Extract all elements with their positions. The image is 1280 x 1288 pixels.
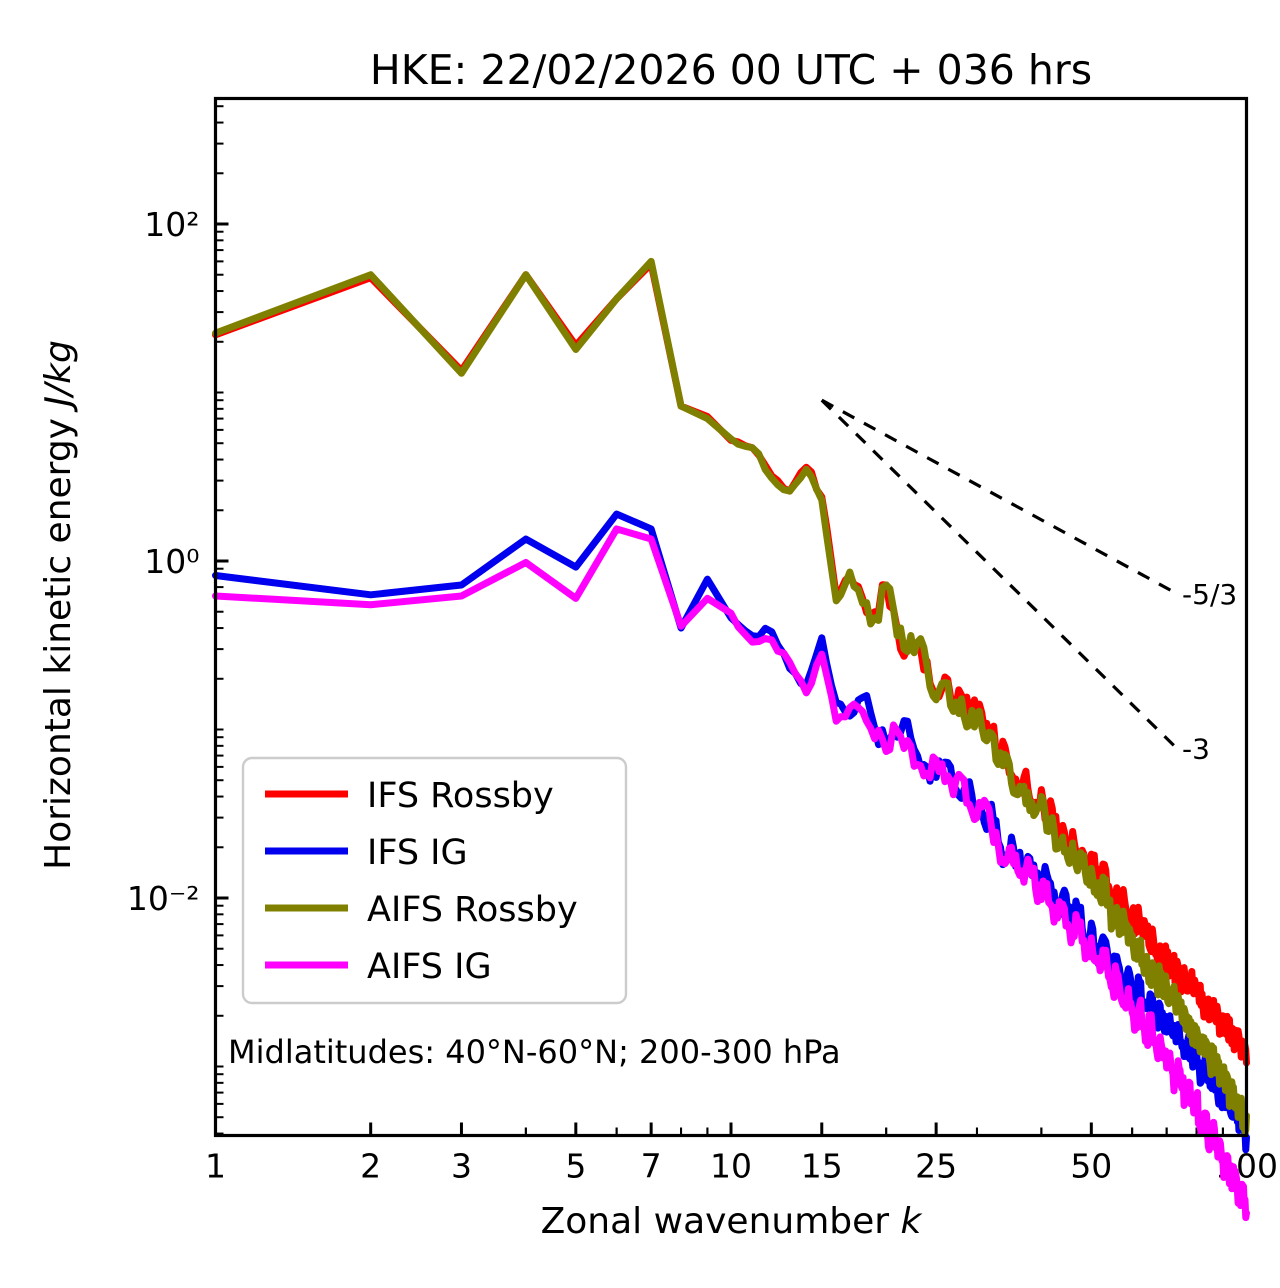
legend-label-ifs-ig: IFS IG <box>367 833 468 873</box>
figure-canvas: HKE: 22/02/2026 00 UTC + 036 hrs Horizon… <box>0 0 1280 1288</box>
x-tick-label: 15 <box>801 1147 843 1186</box>
x-tick-label: 25 <box>915 1147 957 1186</box>
chart-title: HKE: 22/02/2026 00 UTC + 036 hrs <box>370 46 1092 94</box>
x-tick-label: 3 <box>451 1147 472 1186</box>
y-axis-label: Horizontal kinetic energy J/kg <box>38 340 79 870</box>
region-annotation: Midlatitudes: 40°N-60°N; 200-300 hPa <box>228 1033 841 1071</box>
slope-label: -3 <box>1182 733 1210 766</box>
x-tick-label: 1 <box>205 1147 226 1186</box>
legend-label-aifs-rossby: AIFS Rossby <box>367 890 578 930</box>
x-axis-label-main: Zonal wavenumber <box>541 1201 901 1242</box>
x-axis-label-symbol: k <box>901 1201 924 1242</box>
legend-label-aifs-ig: AIFS IG <box>367 947 492 987</box>
y-tick-label: 10² <box>144 205 199 244</box>
slope-label: -5/3 <box>1182 578 1237 611</box>
x-tick-label: 5 <box>565 1147 586 1186</box>
slope-line--3 <box>822 400 1176 747</box>
y-tick-label: 10⁰ <box>144 542 199 581</box>
x-tick-label: 10 <box>710 1147 752 1186</box>
y-tick-label: 10⁻² <box>127 879 200 918</box>
data-series-group <box>216 261 1247 1217</box>
x-tick-label: 2 <box>360 1147 381 1186</box>
x-axis-label: Zonal wavenumber k <box>541 1201 924 1242</box>
slope-line--5-3 <box>822 400 1176 593</box>
hke-spectrum-chart: HKE: 22/02/2026 00 UTC + 036 hrs Horizon… <box>0 0 1280 1288</box>
x-tick-label: 7 <box>641 1147 662 1186</box>
legend[interactable]: IFS RossbyIFS IGAIFS RossbyAIFS IG <box>243 758 626 1003</box>
x-tick-label: 50 <box>1070 1147 1112 1186</box>
legend-label-ifs-rossby: IFS Rossby <box>367 776 554 816</box>
y-axis-label-main: Horizontal kinetic energy <box>38 407 79 870</box>
y-axis-label-symbol: J/kg <box>38 340 79 412</box>
